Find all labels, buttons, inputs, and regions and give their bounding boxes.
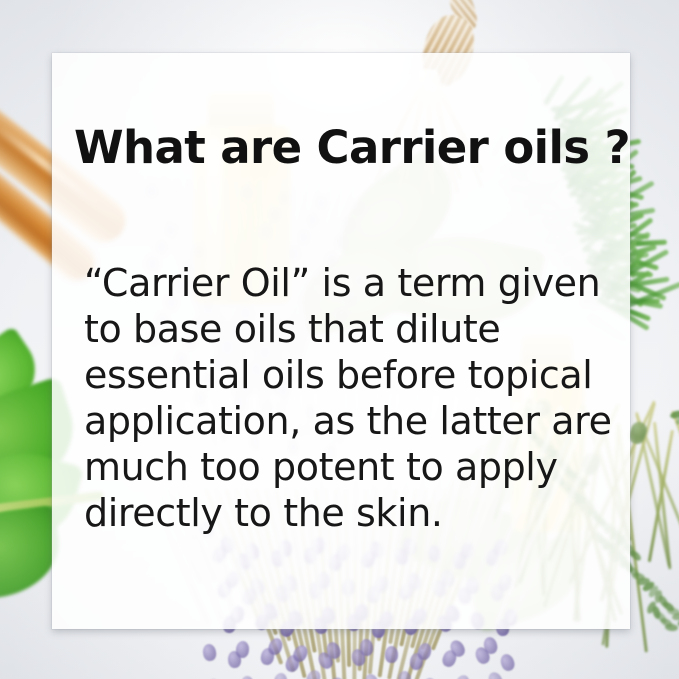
body-line: much too potent to apply <box>84 444 624 490</box>
body-line: “Carrier Oil” is a term given <box>84 260 624 306</box>
body-line: application, as the latter are <box>84 398 624 444</box>
body-copy: “Carrier Oil” is a term given to base oi… <box>84 260 624 536</box>
page-title: What are Carrier oils ? <box>74 125 610 170</box>
body-line: essential oils before topical <box>84 352 624 398</box>
panel-inner: What are Carrier oils ? “Carrier Oil” is… <box>52 53 630 629</box>
body-line: directly to the skin. <box>84 490 624 536</box>
graphic-canvas: What are Carrier oils ? “Carrier Oil” is… <box>0 0 679 679</box>
body-line: to base oils that dilute <box>84 306 624 352</box>
content-panel: What are Carrier oils ? “Carrier Oil” is… <box>52 53 630 629</box>
